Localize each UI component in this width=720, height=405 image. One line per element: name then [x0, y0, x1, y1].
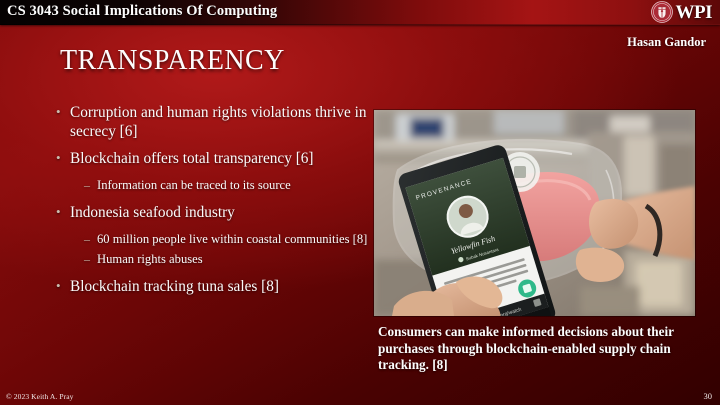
page-title: TRANSPARENCY [60, 45, 285, 77]
footer-copyright: © 2023 Keith A. Pray [6, 392, 74, 401]
slide-canvas: CS 3043 Social Implications Of Computing… [0, 0, 720, 405]
bullet-list: • Corruption and human rights violations… [56, 104, 368, 306]
list-item: • Blockchain tracking tuna sales [8] [56, 278, 368, 297]
list-item-text: Human rights abuses [97, 252, 368, 267]
bullet-marker: • [56, 150, 70, 166]
bullet-marker: • [56, 104, 70, 120]
list-item-text: Indonesia seafood industry [70, 204, 368, 223]
course-title: CS 3043 Social Implications Of Computing [7, 3, 277, 20]
list-item-text: Blockchain tracking tuna sales [8] [70, 278, 368, 297]
list-item-text: 60 million people live within coastal co… [97, 232, 368, 247]
bullet-marker: – [84, 178, 97, 193]
list-item: • Corruption and human rights violations… [56, 104, 368, 141]
list-item: • Blockchain offers total transparency [… [56, 150, 368, 169]
image-caption: Consumers can make informed decisions ab… [378, 324, 694, 374]
list-item: – Information can be traced to its sourc… [84, 178, 368, 193]
slide-number: 30 [704, 391, 713, 401]
wpi-seal-icon [651, 1, 673, 23]
author-name: Hasan Gandor [627, 35, 706, 50]
bullet-marker: – [84, 232, 97, 247]
list-item: – Human rights abuses [84, 252, 368, 267]
slide-header-bar: CS 3043 Social Implications Of Computing [0, 0, 720, 25]
bullet-marker: – [84, 252, 97, 267]
wpi-logo: WPI [651, 1, 713, 23]
list-item: – 60 million people live within coastal … [84, 232, 368, 247]
bullet-marker: • [56, 204, 70, 220]
list-item: • Indonesia seafood industry [56, 204, 368, 223]
list-item-text: Information can be traced to its source [97, 178, 368, 193]
supermarket-blockchain-photo: PROVENANCE Yellowfin Fish Subak Nusantar… [374, 110, 695, 316]
list-item-text: Corruption and human rights violations t… [70, 104, 368, 141]
wpi-wordmark: WPI [676, 3, 713, 22]
bullet-marker: • [56, 278, 70, 294]
list-item-text: Blockchain offers total transparency [6] [70, 150, 368, 169]
